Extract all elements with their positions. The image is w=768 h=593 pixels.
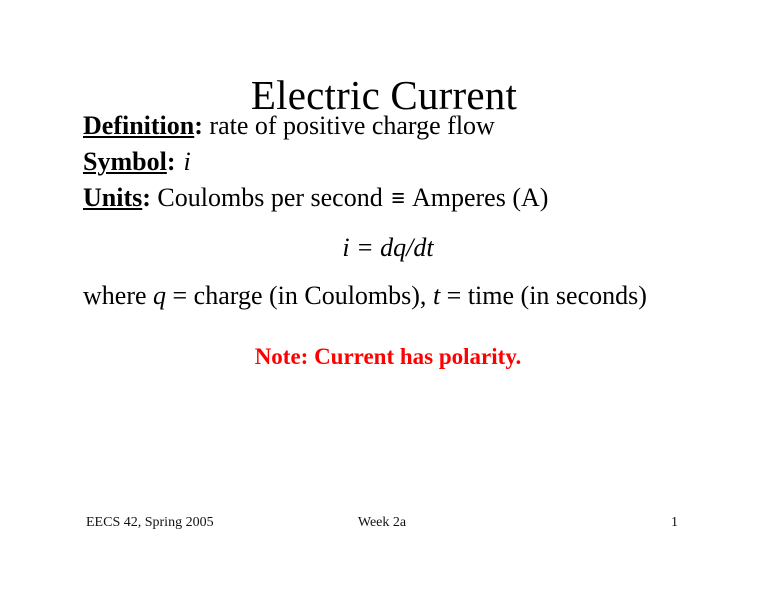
units-label-word: Units [83,183,142,212]
where-mid-1: = charge (in Coulombs), [166,281,433,310]
variable-q: q [153,281,166,310]
symbol-label-word: Symbol [83,147,167,176]
definition-label-colon: : [194,111,203,140]
current-equation: i = dq/dt [83,230,693,266]
units-label-colon: : [142,183,151,212]
identical-to-icon: ≡ [389,186,407,212]
slide-footer: EECS 42, Spring 2005 Week 2a 1 [86,512,678,534]
slide-body: Definition: rate of positive charge flow… [83,108,723,217]
footer-week-label: Week 2a [86,512,678,534]
where-mid-2: = time (in seconds) [440,281,647,310]
where-definitions-line: where q = charge (in Coulombs), t = time… [83,278,723,314]
definition-text: rate of positive charge flow [203,111,495,140]
slide-canvas: Electric Current Definition: rate of pos… [0,0,768,593]
units-text-before: Coulombs per second [151,183,389,212]
units-text-after: Amperes (A) [407,183,549,212]
polarity-note: Note: Current has polarity. [83,342,693,372]
footer-page-number: 1 [671,512,678,534]
symbol-label: Symbol: [83,147,175,176]
definition-label: Definition: [83,111,203,140]
symbol-label-colon: : [167,147,176,176]
units-line: Units: Coulombs per second ≡ Amperes (A) [83,180,723,217]
symbol-value: i [183,147,190,176]
symbol-line: Symbol:i [83,144,723,180]
units-label: Units: [83,183,151,212]
definition-line: Definition: rate of positive charge flow [83,108,723,144]
where-prefix: where [83,281,153,310]
definition-label-word: Definition [83,111,194,140]
